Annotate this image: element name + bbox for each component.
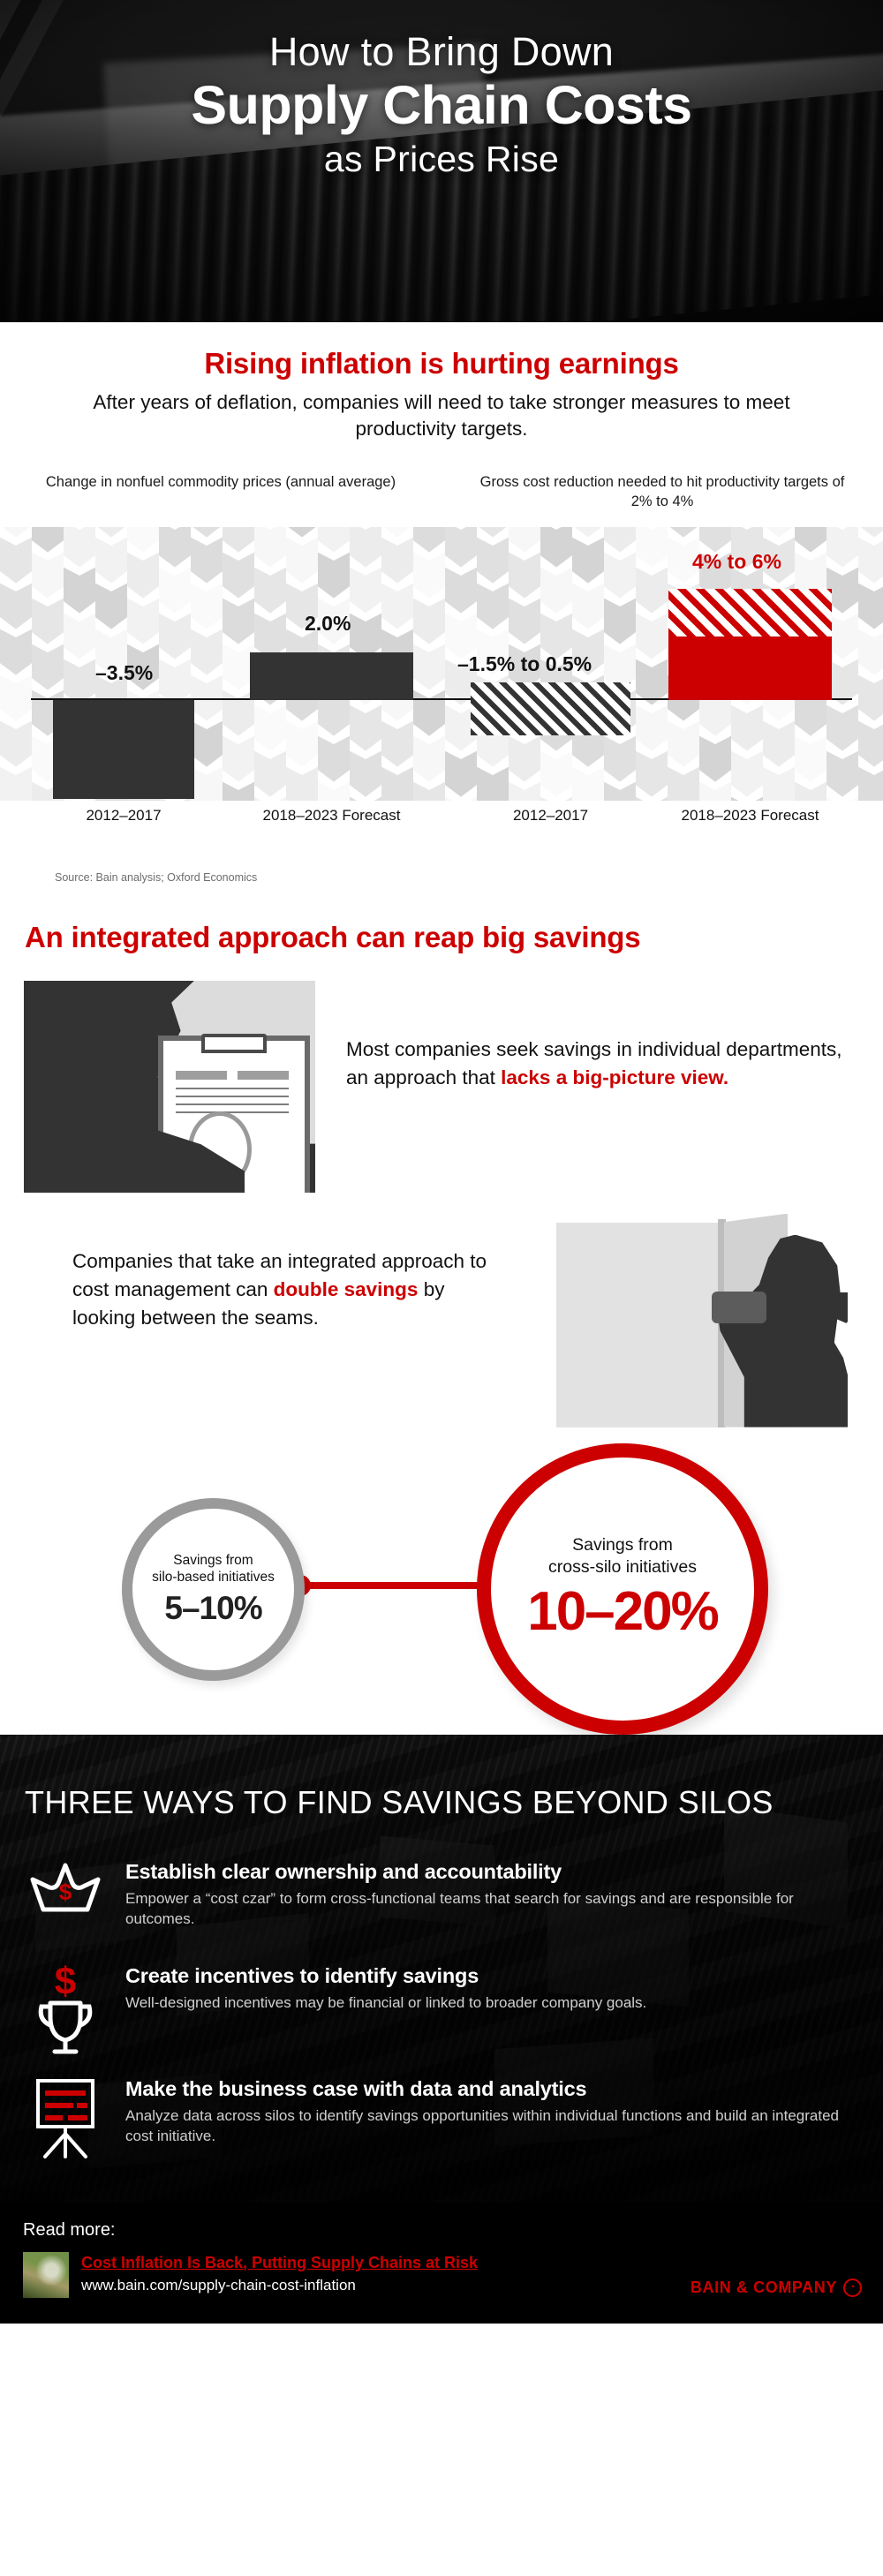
chevron-shape bbox=[731, 797, 763, 801]
approach-section-heading: An integrated approach can reap big savi… bbox=[0, 921, 883, 954]
hero-title-block: How to Bring Down Supply Chain Costs as … bbox=[0, 30, 883, 181]
chevron-shape bbox=[0, 538, 32, 584]
chevron-shape bbox=[858, 721, 883, 767]
chevron-shape bbox=[795, 782, 826, 801]
chevron-shape bbox=[540, 527, 572, 568]
way-item-3-body: Make the business case with data and ana… bbox=[125, 2075, 855, 2164]
bar-commodity-2018-2023 bbox=[250, 652, 413, 700]
way-item-1-body: Establish clear ownership and accountabi… bbox=[125, 1858, 855, 1930]
presentation-board-icon bbox=[25, 2075, 106, 2164]
chevron-shape bbox=[127, 553, 159, 599]
infographic-page: How to Bring Down Supply Chain Costs as … bbox=[0, 0, 883, 2576]
bain-company-wordmark: BAIN & COMPANY bbox=[691, 2278, 837, 2297]
way-item-1: $ Establish clear ownership and accounta… bbox=[25, 1858, 855, 1930]
chevron-shape bbox=[858, 629, 883, 675]
bain-logo-mark-icon: ◔ bbox=[843, 2278, 862, 2297]
chevron-shape bbox=[318, 553, 350, 599]
chevron-shape bbox=[286, 721, 318, 767]
chevron-shape bbox=[223, 736, 254, 782]
chevron-shape bbox=[127, 527, 159, 553]
chevron-shape bbox=[223, 782, 254, 801]
chevron-shape bbox=[254, 797, 286, 801]
cross-silo-savings-caption-line-1: Savings from bbox=[548, 1534, 697, 1556]
chevron-shape bbox=[159, 614, 191, 659]
approach-row-clipboard: Most companies seek savings in individua… bbox=[0, 981, 883, 1193]
chevron-shape bbox=[509, 736, 540, 782]
chevron-shape bbox=[699, 736, 731, 782]
chevron-column bbox=[636, 527, 668, 801]
chevron-shape bbox=[826, 705, 858, 751]
chevron-shape bbox=[795, 736, 826, 782]
chevron-shape bbox=[286, 527, 318, 538]
chevron-column bbox=[413, 527, 445, 801]
footer-read-more-label: Read more: bbox=[23, 2220, 116, 2241]
chevron-shape bbox=[858, 675, 883, 721]
bain-company-logo: BAIN & COMPANY ◔ bbox=[691, 2278, 862, 2297]
chevron-shape bbox=[350, 527, 381, 568]
chevron-shape bbox=[350, 797, 381, 801]
chevron-shape bbox=[413, 690, 445, 736]
bar-label-commodity-2012-2017: –3.5% bbox=[95, 661, 153, 685]
magnifier-clipboard-illustration bbox=[24, 981, 315, 1193]
chevron-shape bbox=[32, 553, 64, 599]
chevron-shape bbox=[191, 538, 223, 584]
x-label-commodity-2018-2023: 2018–2023 Forecast bbox=[250, 806, 413, 826]
chevron-column bbox=[604, 527, 636, 801]
cross-silo-savings-caption: Savings from cross-silo initiatives bbox=[548, 1534, 697, 1579]
chevron-shape bbox=[540, 568, 572, 614]
chevron-shape bbox=[604, 782, 636, 801]
chevron-shape bbox=[127, 599, 159, 644]
chevron-shape bbox=[858, 767, 883, 801]
way-item-2-desc: Well-designed incentives may be financia… bbox=[125, 1993, 855, 2014]
chevron-shape bbox=[604, 527, 636, 553]
chart-panel-title-left: Change in nonfuel commodity prices (annu… bbox=[0, 473, 441, 512]
approach-text-a-bold: lacks a big-picture view. bbox=[501, 1066, 728, 1088]
circle-connector-line bbox=[298, 1582, 490, 1589]
chevron-shape bbox=[64, 568, 95, 614]
chevron-shape bbox=[254, 705, 286, 751]
chevron-shape bbox=[477, 767, 509, 801]
chevron-shape bbox=[668, 721, 699, 767]
bar-cost-reduction-2018-2023-hatched-top bbox=[668, 589, 832, 636]
x-label-cost-reduction-2012-2017: 2012–2017 bbox=[471, 806, 630, 826]
footer-article-url[interactable]: www.bain.com/supply-chain-cost-inflation bbox=[81, 2277, 356, 2294]
clipboard-text-line bbox=[176, 1111, 289, 1113]
chevron-shape bbox=[699, 782, 731, 801]
chevron-shape bbox=[636, 568, 668, 614]
chevron-shape bbox=[0, 767, 32, 801]
chevron-shape bbox=[477, 584, 509, 629]
chevron-shape bbox=[604, 599, 636, 644]
chevron-shape bbox=[191, 629, 223, 675]
hero-title-line-1: How to Bring Down bbox=[0, 30, 883, 74]
way-item-1-title: Establish clear ownership and accountabi… bbox=[125, 1860, 855, 1884]
chevron-shape bbox=[413, 644, 445, 690]
chevron-shape bbox=[95, 527, 127, 538]
chevron-shape bbox=[668, 767, 699, 801]
chevron-shape bbox=[318, 782, 350, 801]
hero-banner: How to Bring Down Supply Chain Costs as … bbox=[0, 0, 883, 322]
chevron-shape bbox=[858, 538, 883, 584]
chevron-shape bbox=[413, 736, 445, 782]
chevron-shape bbox=[191, 721, 223, 767]
chevron-shape bbox=[191, 584, 223, 629]
chevron-shape bbox=[413, 782, 445, 801]
chevron-shape bbox=[858, 584, 883, 629]
footer-thumbnail-overlay bbox=[23, 2252, 69, 2298]
chevron-shape bbox=[636, 527, 668, 568]
chevron-shape bbox=[350, 751, 381, 797]
inflation-chart-section: Rising inflation is hurting earnings Aft… bbox=[0, 322, 883, 884]
chevron-shape bbox=[572, 527, 604, 538]
way-item-3-desc: Analyze data across silos to identify sa… bbox=[125, 2106, 855, 2147]
x-label-cost-reduction-2018-2023: 2018–2023 Forecast bbox=[668, 806, 832, 826]
chevron-shape bbox=[477, 538, 509, 584]
way-item-2-body: Create incentives to identify savings We… bbox=[125, 1962, 855, 2058]
chevron-shape bbox=[763, 721, 795, 767]
savings-comparison-circles: Savings from silo-based initiatives 5–10… bbox=[0, 1443, 883, 1735]
chevron-shape bbox=[509, 553, 540, 599]
chevron-shape bbox=[540, 751, 572, 797]
chevron-shape bbox=[286, 767, 318, 801]
chevron-shape bbox=[32, 527, 64, 553]
way-item-2: $ Create incentives to identify savings … bbox=[25, 1962, 855, 2058]
integrated-approach-section: An integrated approach can reap big savi… bbox=[0, 884, 883, 1735]
bar-label-cost-reduction-2018-2023: 4% to 6% bbox=[692, 550, 781, 574]
chart-section-heading: Rising inflation is hurting earnings bbox=[0, 347, 883, 380]
chevron-shape bbox=[509, 782, 540, 801]
chevron-shape bbox=[604, 736, 636, 782]
way-item-3-title: Make the business case with data and ana… bbox=[125, 2077, 855, 2101]
chevron-shape bbox=[254, 751, 286, 797]
hero-title-line-3: as Prices Rise bbox=[0, 139, 883, 180]
chevron-shape bbox=[0, 527, 32, 538]
chevron-shape bbox=[540, 797, 572, 801]
chevron-shape bbox=[64, 527, 95, 568]
chevron-shape bbox=[0, 629, 32, 675]
chevron-shape bbox=[826, 797, 858, 801]
clipboard-text-line bbox=[176, 1088, 289, 1089]
illustration-wall-left bbox=[556, 1223, 724, 1427]
chevron-shape bbox=[636, 751, 668, 797]
way-item-2-title: Create incentives to identify savings bbox=[125, 1964, 855, 1988]
bar-label-cost-reduction-2012-2017: –1.5% to 0.5% bbox=[457, 652, 592, 676]
svg-text:$: $ bbox=[59, 1879, 72, 1905]
chevron-shape bbox=[699, 527, 731, 553]
clipboard-text-block bbox=[238, 1071, 289, 1080]
bar-commodity-2012-2017 bbox=[53, 700, 194, 799]
chevron-shape bbox=[223, 599, 254, 644]
chevron-shape bbox=[0, 675, 32, 721]
chevron-shape bbox=[381, 584, 413, 629]
silo-savings-circle: Savings from silo-based initiatives 5–10… bbox=[122, 1498, 305, 1681]
chevron-shape bbox=[350, 705, 381, 751]
chevron-shape bbox=[572, 767, 604, 801]
hero-title-line-2: Supply Chain Costs bbox=[0, 76, 883, 135]
chevron-shape bbox=[604, 553, 636, 599]
chevron-shape bbox=[381, 767, 413, 801]
approach-text-a: Most companies seek savings in individua… bbox=[346, 1036, 846, 1092]
chart-panel-titles: Change in nonfuel commodity prices (annu… bbox=[0, 473, 883, 512]
footer-article-link[interactable]: Cost Inflation Is Back, Putting Supply C… bbox=[81, 2254, 478, 2272]
chevron-shape bbox=[509, 599, 540, 644]
clipboard-text-block bbox=[176, 1071, 227, 1080]
chevron-shape bbox=[223, 553, 254, 599]
chevron-shape bbox=[95, 538, 127, 584]
chevron-shape bbox=[381, 527, 413, 538]
chevron-shape bbox=[0, 584, 32, 629]
three-ways-section: THREE WAYS TO FIND SAVINGS BEYOND SILOS … bbox=[0, 1735, 883, 2203]
chevron-shape bbox=[763, 767, 795, 801]
chevron-shape bbox=[572, 584, 604, 629]
chevron-shape bbox=[254, 527, 286, 568]
bar-cost-reduction-2012-2017 bbox=[471, 682, 630, 735]
chevron-shape bbox=[223, 527, 254, 553]
chevron-shape bbox=[858, 527, 883, 538]
clipboard-text-line bbox=[176, 1096, 289, 1097]
chevron-shape bbox=[795, 527, 826, 553]
chevron-shape bbox=[731, 751, 763, 797]
chevron-column bbox=[191, 527, 223, 801]
approach-text-b-bold: double savings bbox=[274, 1278, 419, 1300]
binoculars-icon bbox=[712, 1292, 766, 1323]
chevron-shape bbox=[572, 538, 604, 584]
svg-text:$: $ bbox=[55, 1962, 76, 2003]
chevron-shape bbox=[445, 527, 477, 568]
silo-savings-value: 5–10% bbox=[164, 1590, 261, 1627]
chevron-shape bbox=[413, 599, 445, 644]
chevron-shape bbox=[159, 527, 191, 568]
cross-silo-savings-caption-line-2: cross-silo initiatives bbox=[548, 1556, 697, 1578]
three-ways-heading: THREE WAYS TO FIND SAVINGS BEYOND SILOS bbox=[25, 1784, 774, 1821]
chevron-shape bbox=[763, 527, 795, 538]
chevron-shape bbox=[0, 721, 32, 767]
chevron-shape bbox=[413, 553, 445, 599]
binoculars-illustration bbox=[547, 1207, 848, 1427]
chevron-shape bbox=[159, 568, 191, 614]
chevron-shape bbox=[636, 705, 668, 751]
chart-source-note: Source: Bain analysis; Oxford Economics bbox=[55, 871, 883, 884]
chevron-shape bbox=[413, 527, 445, 553]
chevron-shape bbox=[318, 527, 350, 553]
bar-chart-plot-area: –3.5% 2.0% –1.5% to 0.5% 4% to 6% bbox=[0, 527, 883, 801]
chevron-shape bbox=[32, 599, 64, 644]
chevron-shape bbox=[350, 568, 381, 614]
chevron-shape bbox=[731, 705, 763, 751]
chevron-shape bbox=[445, 797, 477, 801]
chevron-shape bbox=[509, 527, 540, 553]
footer-article-thumbnail bbox=[23, 2252, 69, 2298]
chevron-shape bbox=[381, 721, 413, 767]
crown-dollar-icon: $ bbox=[25, 1858, 106, 1930]
chart-panel-title-right: Gross cost reduction needed to hit produ… bbox=[441, 473, 883, 512]
bar-cost-reduction-2018-2023 bbox=[668, 636, 832, 700]
silo-savings-caption-line-1: Savings from bbox=[152, 1552, 275, 1569]
chevron-shape bbox=[445, 751, 477, 797]
chevron-shape bbox=[191, 767, 223, 801]
chevron-shape bbox=[286, 538, 318, 584]
clipboard-text-line bbox=[176, 1103, 289, 1105]
chevron-shape bbox=[381, 538, 413, 584]
cross-silo-savings-value: 10–20% bbox=[527, 1580, 718, 1643]
chevron-column bbox=[0, 527, 32, 801]
chevron-shape bbox=[191, 527, 223, 538]
chevron-shape bbox=[445, 568, 477, 614]
chart-x-axis-labels: 2012–2017 2018–2023 Forecast 2012–2017 2… bbox=[0, 806, 883, 859]
chevron-shape bbox=[636, 614, 668, 659]
x-label-commodity-2012-2017: 2012–2017 bbox=[53, 806, 194, 826]
bar-label-commodity-2018-2023: 2.0% bbox=[305, 612, 351, 636]
cross-silo-savings-circle: Savings from cross-silo initiatives 10–2… bbox=[477, 1443, 768, 1735]
approach-text-b: Companies that take an integrated approa… bbox=[72, 1247, 487, 1332]
chevron-shape bbox=[64, 614, 95, 659]
chevron-shape bbox=[318, 736, 350, 782]
silo-savings-caption: Savings from silo-based initiatives bbox=[152, 1552, 275, 1586]
way-item-1-desc: Empower a “cost czar” to form cross-func… bbox=[125, 1889, 855, 1930]
chevron-shape bbox=[254, 568, 286, 614]
clipboard-clamp-icon bbox=[201, 1034, 267, 1053]
chevron-shape bbox=[477, 527, 509, 538]
footer: Read more: Cost Inflation Is Back, Putti… bbox=[0, 2203, 883, 2324]
chevron-shape bbox=[95, 584, 127, 629]
approach-row-binoculars: Companies that take an integrated approa… bbox=[0, 1207, 883, 1436]
chevron-column bbox=[858, 527, 883, 801]
chevron-shape bbox=[826, 751, 858, 797]
chart-section-subheading: After years of deflation, companies will… bbox=[0, 389, 883, 443]
chevron-shape bbox=[32, 644, 64, 690]
chevron-shape bbox=[826, 527, 858, 568]
chevron-shape bbox=[636, 797, 668, 801]
chevron-shape bbox=[668, 527, 699, 538]
way-item-3: Make the business case with data and ana… bbox=[25, 2075, 855, 2164]
silo-savings-caption-line-2: silo-based initiatives bbox=[152, 1569, 275, 1586]
trophy-dollar-icon: $ bbox=[25, 1962, 106, 2058]
